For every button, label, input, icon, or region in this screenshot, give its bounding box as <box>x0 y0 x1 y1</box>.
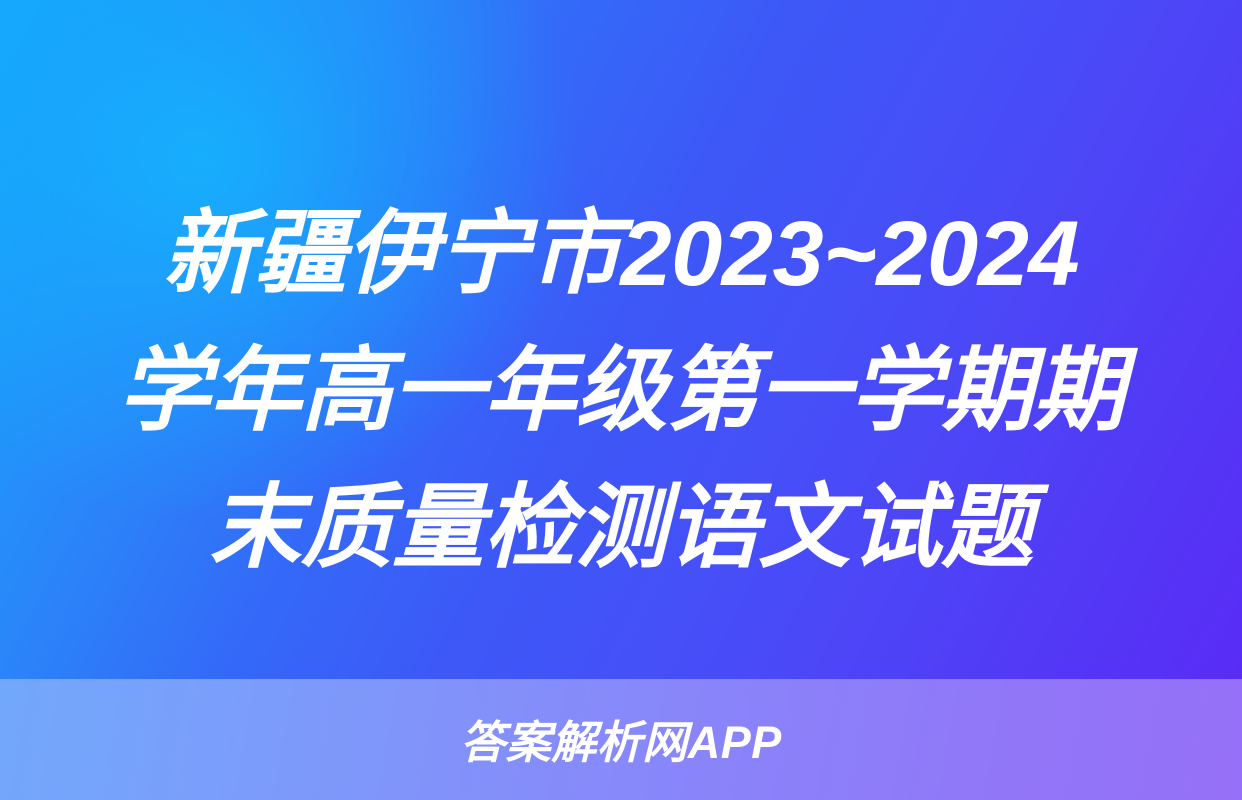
watermark-label: 答案解析网APP <box>460 714 782 765</box>
title-line-1: 新疆伊宁市2023~2024 <box>46 186 1196 323</box>
page-title: 新疆伊宁市2023~2024 学年高一年级第一学期期 末质量检测语文试题 <box>0 186 1242 597</box>
watermark-band: 答案解析网APP <box>0 679 1242 800</box>
title-line-2: 学年高一年级第一学期期 <box>46 323 1196 460</box>
exam-cover-banner: 新疆伊宁市2023~2024 学年高一年级第一学期期 末质量检测语文试题 答案解… <box>0 0 1242 800</box>
title-line-3: 末质量检测语文试题 <box>46 460 1196 597</box>
